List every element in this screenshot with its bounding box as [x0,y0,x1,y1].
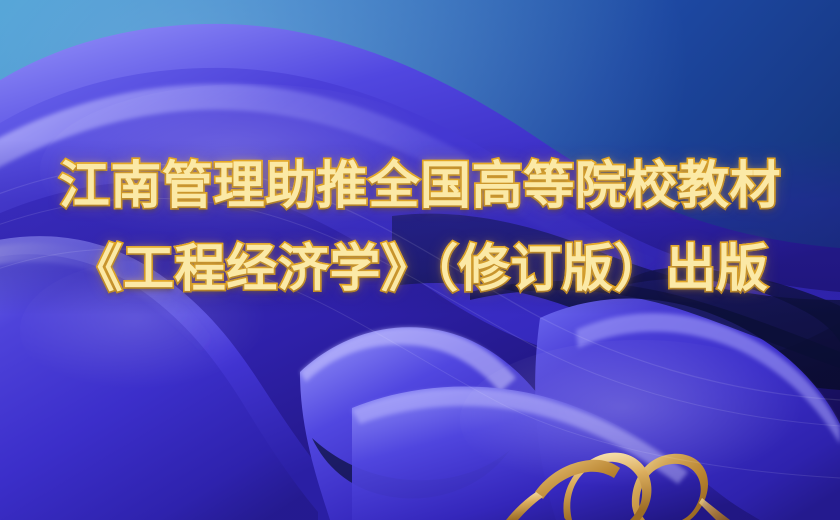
promo-banner: 江南管理助推全国高等院校教材 《工程经济学》（修订版）出版 [0,0,840,520]
background-artwork [0,0,840,520]
headline-backdrop [0,140,840,315]
